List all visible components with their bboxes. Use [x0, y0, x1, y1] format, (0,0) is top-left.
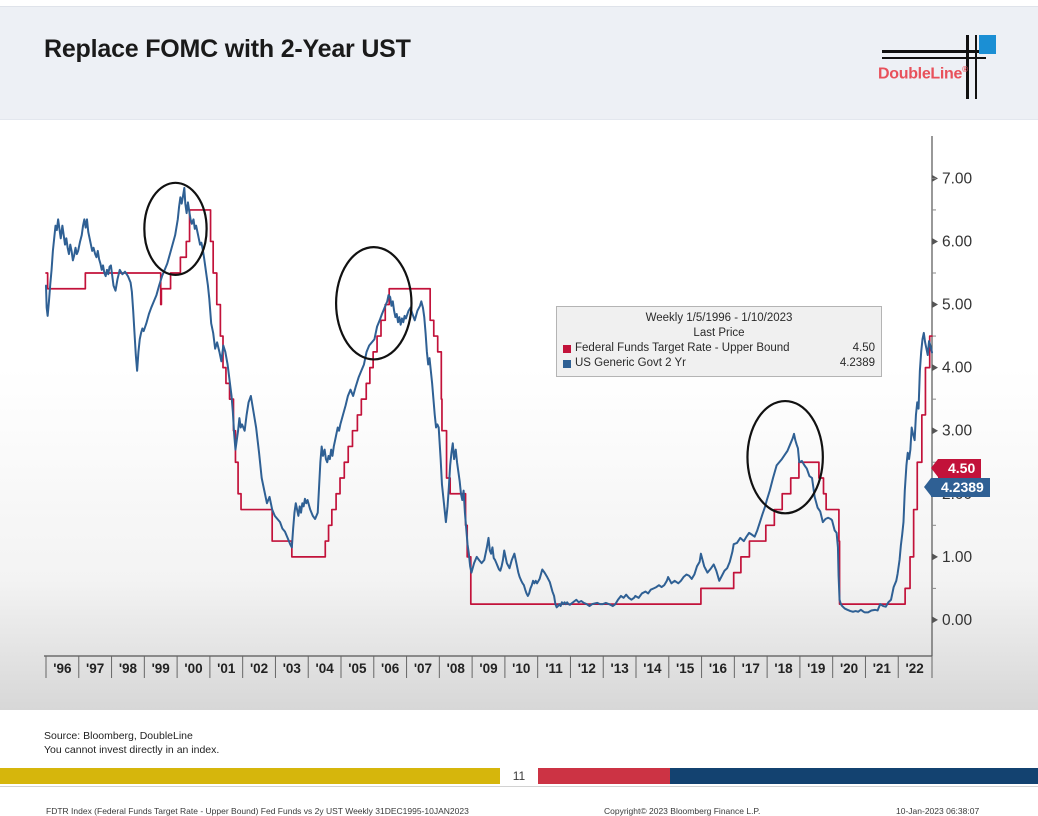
footer-band-red [538, 768, 670, 784]
legend-subtitle: Last Price [563, 326, 875, 341]
chart-legend: Weekly 1/5/1996 - 1/10/2023 Last Price F… [556, 306, 882, 377]
x-axis-tick-label: '02 [250, 661, 268, 676]
x-axis-tick-label: '14 [643, 661, 662, 676]
x-axis-tick-label: '19 [807, 661, 825, 676]
y-axis-tick-label: 0.00 [942, 612, 973, 629]
price-flag-fed-funds-value: 4.50 [948, 460, 975, 476]
source-note: Source: Bloomberg, DoubleLine You cannot… [44, 729, 219, 757]
page-number: 11 [500, 768, 538, 784]
annotation-circle [747, 401, 822, 513]
x-axis-tick-label: '00 [184, 661, 202, 676]
x-axis-tick-label: '10 [512, 661, 530, 676]
y-axis-tick-label: 1.00 [942, 549, 973, 566]
legend-label-ust-2y: US Generic Govt 2 Yr [575, 356, 686, 371]
x-axis-tick-label: '20 [840, 661, 858, 676]
y-axis-tick-label: 4.00 [942, 360, 973, 377]
price-flag-ust-2y-value: 4.2389 [941, 479, 984, 495]
logo-wordmark-text: DoubleLine [878, 65, 962, 82]
y-axis-tick-label: 5.00 [942, 297, 973, 314]
x-axis-tick-label: '07 [414, 661, 432, 676]
x-axis-tick-label: '05 [348, 661, 367, 676]
legend-item-fed-funds: Federal Funds Target Rate - Upper Bound … [563, 341, 875, 356]
chart-source-line: FDTR Index (Federal Funds Target Rate - … [46, 806, 469, 816]
logo-horizontal-line-2 [882, 57, 986, 59]
legend-swatch-ust-2y [563, 360, 571, 368]
footer-band: 11 [0, 768, 1038, 784]
x-axis-tick-label: '15 [676, 661, 695, 676]
chart-series-line [46, 188, 932, 612]
legend-date-range: Weekly 1/5/1996 - 1/10/2023 [563, 311, 875, 326]
footer-band-yellow [0, 768, 500, 784]
price-flag-ust-2y: 4.2389 [931, 478, 990, 497]
chart-copyright: Copyright© 2023 Bloomberg Finance L.P. [604, 806, 760, 816]
x-axis-tick-label: '01 [217, 661, 236, 676]
legend-value-fed-funds: 4.50 [853, 341, 875, 356]
legend-swatch-fed-funds [563, 345, 571, 353]
logo-blue-square [979, 35, 996, 54]
annotation-circle [336, 247, 411, 359]
x-axis-tick-label: '96 [53, 661, 72, 676]
x-axis-tick-label: '04 [315, 661, 334, 676]
chart-timestamp: 10-Jan-2023 06:38:07 [896, 806, 979, 816]
x-axis-tick-label: '18 [774, 661, 793, 676]
logo-vertical-line-2 [975, 35, 977, 99]
bloomberg-chart: 0.001.002.003.004.005.006.007.00'96'97'9… [0, 120, 1038, 710]
x-axis-tick-label: '08 [447, 661, 466, 676]
x-axis-tick-label: '17 [742, 661, 760, 676]
source-note-line-2: You cannot invest directly in an index. [44, 743, 219, 757]
x-axis-tick-label: '97 [86, 661, 104, 676]
legend-value-ust-2y: 4.2389 [840, 356, 875, 371]
x-axis-tick-label: '11 [545, 661, 563, 676]
doubleline-logo: DoubleLine® [874, 33, 996, 99]
chart-area: 0.001.002.003.004.005.006.007.00'96'97'9… [0, 120, 1038, 710]
x-axis-tick-label: '06 [381, 661, 400, 676]
logo-registered-mark: ® [962, 65, 968, 74]
source-note-line-1: Source: Bloomberg, DoubleLine [44, 729, 219, 743]
slide-header: Replace FOMC with 2-Year UST DoubleLine® [0, 6, 1038, 120]
logo-horizontal-line-1 [882, 50, 986, 53]
y-axis-tick-label: 3.00 [942, 423, 973, 440]
x-axis-tick-label: '13 [611, 661, 630, 676]
price-flag-fed-funds: 4.50 [938, 459, 981, 478]
x-axis-tick-label: '12 [578, 661, 596, 676]
legend-item-ust-2y: US Generic Govt 2 Yr 4.2389 [563, 356, 875, 371]
x-axis-tick-label: '99 [152, 661, 170, 676]
legend-label-fed-funds: Federal Funds Target Rate - Upper Bound [575, 341, 790, 356]
page-title: Replace FOMC with 2-Year UST [44, 35, 411, 64]
x-axis-tick-label: '22 [906, 661, 924, 676]
x-axis-tick-label: '03 [283, 661, 302, 676]
x-axis-tick-label: '09 [479, 661, 497, 676]
x-axis-tick-label: '21 [873, 661, 892, 676]
bottom-strip [0, 786, 1038, 801]
x-axis-tick-label: '98 [119, 661, 138, 676]
y-axis-tick-label: 7.00 [942, 170, 973, 187]
footer-band-blue [670, 768, 1038, 784]
y-axis-tick-label: 6.00 [942, 233, 973, 250]
x-axis-tick-label: '16 [709, 661, 728, 676]
logo-wordmark: DoubleLine® [878, 65, 968, 83]
